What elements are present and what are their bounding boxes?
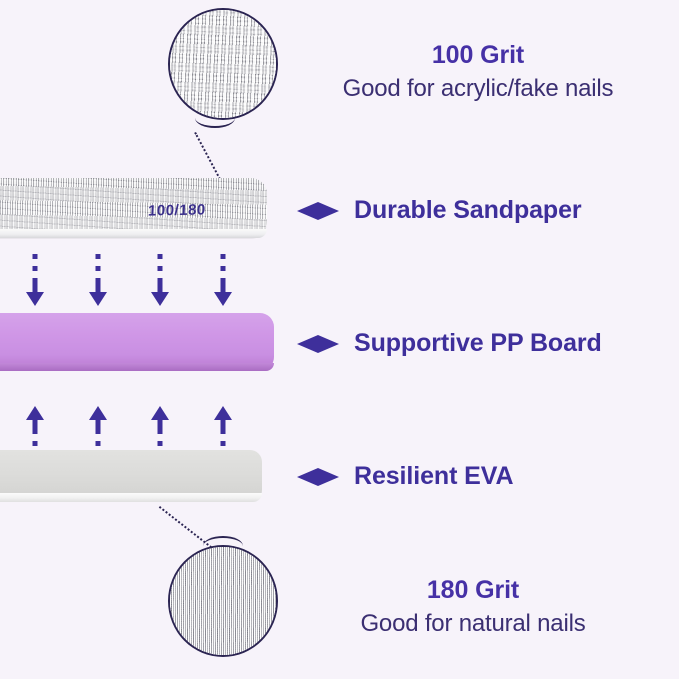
callout-top: 100 Grit Good for acrylic/fake nails (278, 40, 678, 104)
feature-label: Durable Sandpaper (354, 196, 582, 225)
infographic-canvas: 100 Grit Good for acrylic/fake nails 100… (0, 0, 679, 679)
coarse-grit-texture (168, 8, 278, 120)
down-arrow-icon (87, 252, 109, 308)
callout-top-title: 100 Grit (278, 40, 678, 71)
diamond-bullet-icon (296, 200, 340, 222)
diamond-bullet-icon (296, 466, 340, 488)
down-arrow-icon (149, 252, 171, 308)
feature-label: Supportive PP Board (354, 329, 602, 358)
eva-bottom-edge (0, 493, 262, 502)
feature-label: Resilient EVA (354, 462, 513, 491)
magnifier-top-arc (195, 108, 235, 128)
eva-layer (0, 450, 262, 502)
magnifier-coarse-grit (168, 8, 278, 120)
feature-resilient-eva: Resilient EVA (296, 462, 513, 491)
callout-top-subtitle: Good for acrylic/fake nails (278, 73, 678, 104)
callout-bottom: 180 Grit Good for natural nails (278, 575, 668, 639)
diamond-bullet-icon (296, 333, 340, 355)
grit-stamp-label: 100/180 (148, 201, 207, 219)
callout-bottom-subtitle: Good for natural nails (278, 608, 668, 639)
sandpaper-layer: 100/180 (0, 178, 267, 238)
magnifier-fine-grit (168, 545, 278, 657)
feature-durable-sandpaper: Durable Sandpaper (296, 196, 582, 225)
down-arrow-icon (212, 252, 234, 308)
down-arrow-row (24, 252, 234, 308)
down-arrow-icon (24, 252, 46, 308)
pp-board-layer (0, 313, 274, 371)
callout-bottom-title: 180 Grit (278, 575, 668, 606)
sandpaper-bottom-edge (0, 229, 267, 238)
fine-grit-texture (168, 545, 278, 657)
pp-board-bottom-edge (0, 363, 274, 371)
feature-supportive-pp-board: Supportive PP Board (296, 329, 602, 358)
